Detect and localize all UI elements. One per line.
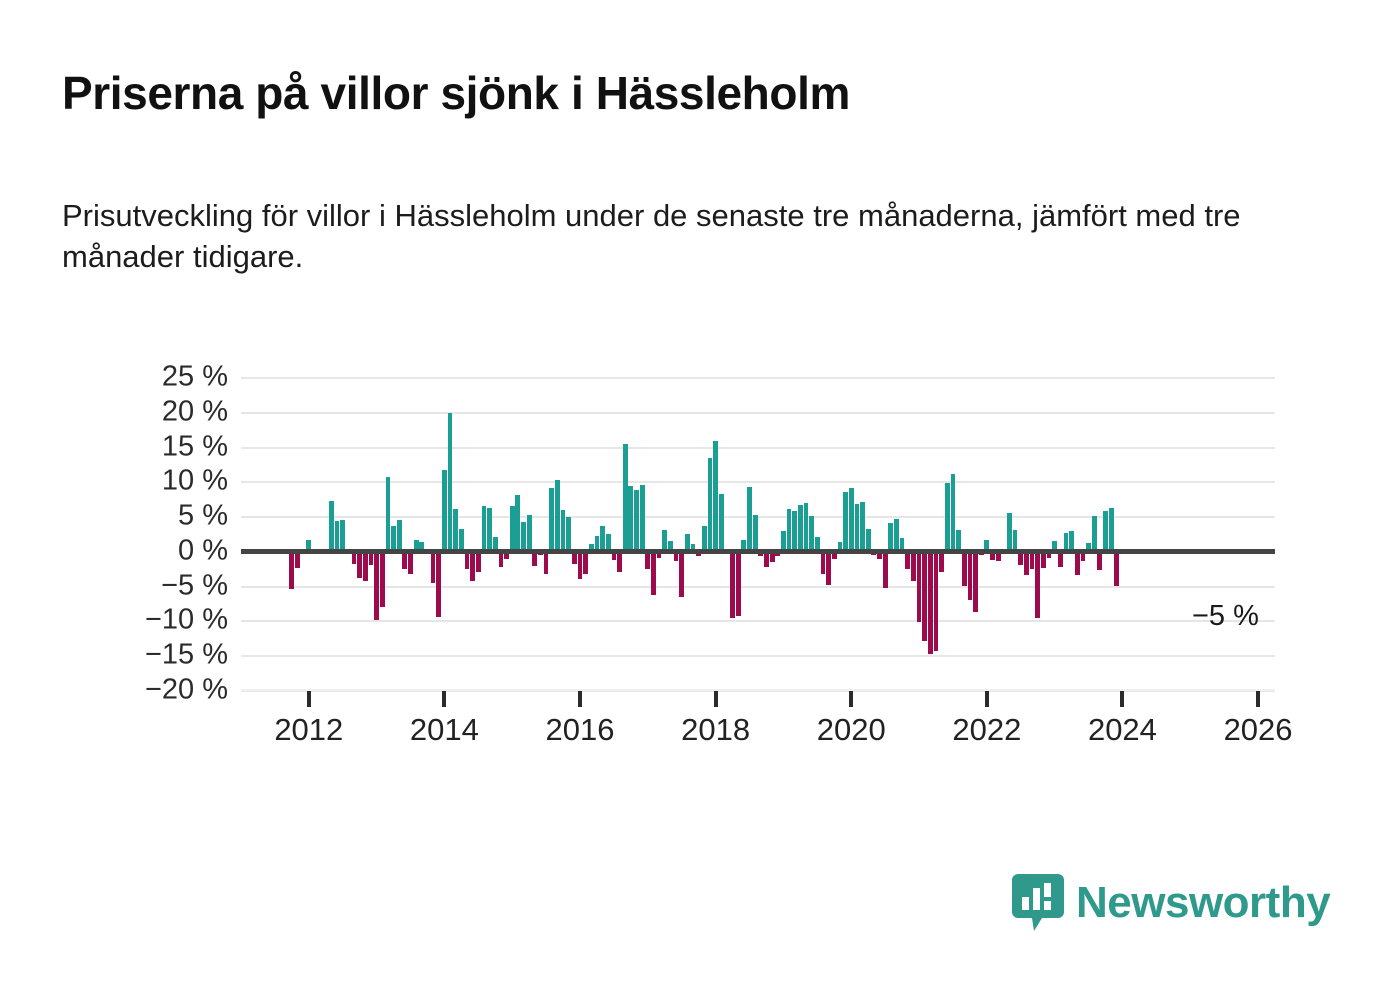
chart-bar (363, 551, 368, 582)
chart-bar (651, 551, 656, 596)
chart-bar (792, 511, 797, 551)
chart-bar (448, 413, 453, 551)
chart-bar (860, 502, 865, 551)
x-axis-ticks (241, 691, 1275, 707)
chart-bar (973, 551, 978, 612)
chart-bar (1092, 516, 1097, 551)
plot-area (241, 377, 1275, 690)
chart-bar (1035, 551, 1040, 618)
chart-bar (804, 503, 809, 551)
x-axis-tick-label: 2016 (546, 712, 615, 748)
chart-bar (747, 487, 752, 551)
chart-bar (928, 551, 933, 654)
chart-bar (329, 501, 334, 551)
chart-bar (482, 506, 487, 551)
chart-bar (911, 551, 916, 581)
chart-bar (561, 510, 566, 551)
y-axis-tick-label: 5 % (8, 500, 228, 533)
chart-bar (476, 551, 481, 572)
x-axis-tick (849, 691, 853, 707)
chart-bar (549, 488, 554, 551)
chart-bar (1013, 530, 1018, 551)
chart-bar (1103, 511, 1108, 551)
chart-bar (951, 474, 956, 551)
chart-bar (527, 515, 532, 551)
chart-bar (470, 551, 475, 582)
chart-bar (708, 458, 713, 551)
chart-bar (515, 495, 520, 551)
y-axis-tick-label: 25 % (8, 361, 228, 394)
chart-bar (617, 551, 622, 572)
chart-bar (628, 486, 633, 551)
chart-bar (521, 522, 526, 551)
chart-bar (544, 551, 549, 574)
chart-bar (640, 485, 645, 551)
chart-bar (459, 529, 464, 551)
chart-bar (555, 480, 560, 551)
chart-bar (939, 551, 944, 572)
chart-bar (1114, 551, 1119, 586)
x-axis-tick-label: 2020 (817, 712, 886, 748)
chart-bar (753, 515, 758, 550)
x-axis-tick (1120, 691, 1124, 707)
chart-bar (583, 551, 588, 574)
bar-chart: 25 %20 %15 %10 %5 %0 %−5 %−10 %−15 %−20 … (0, 0, 1382, 999)
chart-bar (719, 494, 724, 551)
chart-page: Priserna på villor sjönk i Hässleholm Pr… (0, 0, 1382, 999)
chart-bar (487, 508, 492, 550)
chart-bar (386, 477, 391, 551)
chart-bar (821, 551, 826, 574)
y-axis-labels: 25 %20 %15 %10 %5 %0 %−5 %−10 %−15 %−20 … (0, 377, 228, 690)
x-axis-tick (307, 691, 311, 707)
zero-line (241, 549, 1275, 554)
y-axis-tick-label: 20 % (8, 395, 228, 428)
y-axis-tick-label: −15 % (8, 639, 228, 672)
chart-bar (1007, 513, 1012, 551)
x-axis-tick (985, 691, 989, 707)
chart-bar (945, 483, 950, 550)
chart-bar (826, 551, 831, 585)
chart-bar (956, 530, 961, 551)
chart-bar (888, 523, 893, 551)
chart-bar (781, 531, 786, 551)
chart-bar (968, 551, 973, 600)
bar-series (241, 377, 1275, 690)
chart-bar (713, 441, 718, 551)
logo-wordmark: Newsworthy (1076, 881, 1330, 925)
y-axis-tick-label: 0 % (8, 534, 228, 567)
chart-bar (702, 526, 707, 551)
chart-bar (289, 551, 294, 589)
chart-bar (798, 505, 803, 551)
x-axis-tick-label: 2024 (1088, 712, 1157, 748)
y-axis-tick-label: 10 % (8, 465, 228, 498)
chart-bar (510, 506, 515, 551)
chart-bar (962, 551, 967, 586)
x-axis-tick (442, 691, 446, 707)
x-axis-tick (1256, 691, 1260, 707)
chart-bar (634, 490, 639, 551)
chart-bar (917, 551, 922, 622)
y-axis-tick-label: −20 % (8, 674, 228, 707)
chart-bar (662, 530, 667, 551)
chart-bar (1024, 551, 1029, 575)
x-axis-tick-label: 2014 (410, 712, 479, 748)
x-axis-tick (714, 691, 718, 707)
x-axis-tick-label: 2018 (681, 712, 750, 748)
x-axis-tick-label: 2012 (274, 712, 343, 748)
chart-bar (679, 551, 684, 597)
chart-bar (809, 516, 814, 551)
chart-bar (730, 551, 735, 618)
chart-bar (849, 488, 854, 551)
chart-bar (855, 504, 860, 551)
x-axis-tick-label: 2026 (1224, 712, 1293, 748)
chart-bar (453, 509, 458, 551)
chart-bar (578, 551, 583, 580)
chart-bar (922, 551, 927, 641)
chart-bar (566, 517, 571, 551)
chart-bar (843, 492, 848, 550)
chart-bar (357, 551, 362, 578)
y-axis-tick-label: 15 % (8, 430, 228, 463)
chart-bar (340, 520, 345, 551)
bar-chart-speech-bubble-icon (1012, 874, 1064, 932)
chart-bar (787, 509, 792, 551)
x-axis-tick (578, 691, 582, 707)
chart-bar (623, 444, 628, 551)
chart-bar (1075, 551, 1080, 575)
y-axis-tick-label: −5 % (8, 569, 228, 602)
chart-bar (436, 551, 441, 617)
chart-bar (374, 551, 379, 620)
chart-bar (866, 529, 871, 551)
chart-bar (335, 521, 340, 551)
chart-bar (391, 526, 396, 551)
chart-bar (736, 551, 741, 616)
chart-bar (380, 551, 385, 607)
chart-bar (894, 519, 899, 551)
chart-bar (883, 551, 888, 589)
chart-bar (397, 520, 402, 551)
x-axis-labels: 20122014201620182020202220242026 (241, 712, 1275, 758)
y-axis-tick-label: −10 % (8, 604, 228, 637)
chart-bar (934, 551, 939, 651)
chart-bar (1109, 508, 1114, 551)
chart-bar (431, 551, 436, 583)
chart-bar (408, 551, 413, 574)
chart-bar (600, 526, 605, 551)
newsworthy-logo[interactable]: Newsworthy (1012, 874, 1330, 932)
chart-bar (442, 470, 447, 551)
x-axis-tick-label: 2022 (952, 712, 1021, 748)
